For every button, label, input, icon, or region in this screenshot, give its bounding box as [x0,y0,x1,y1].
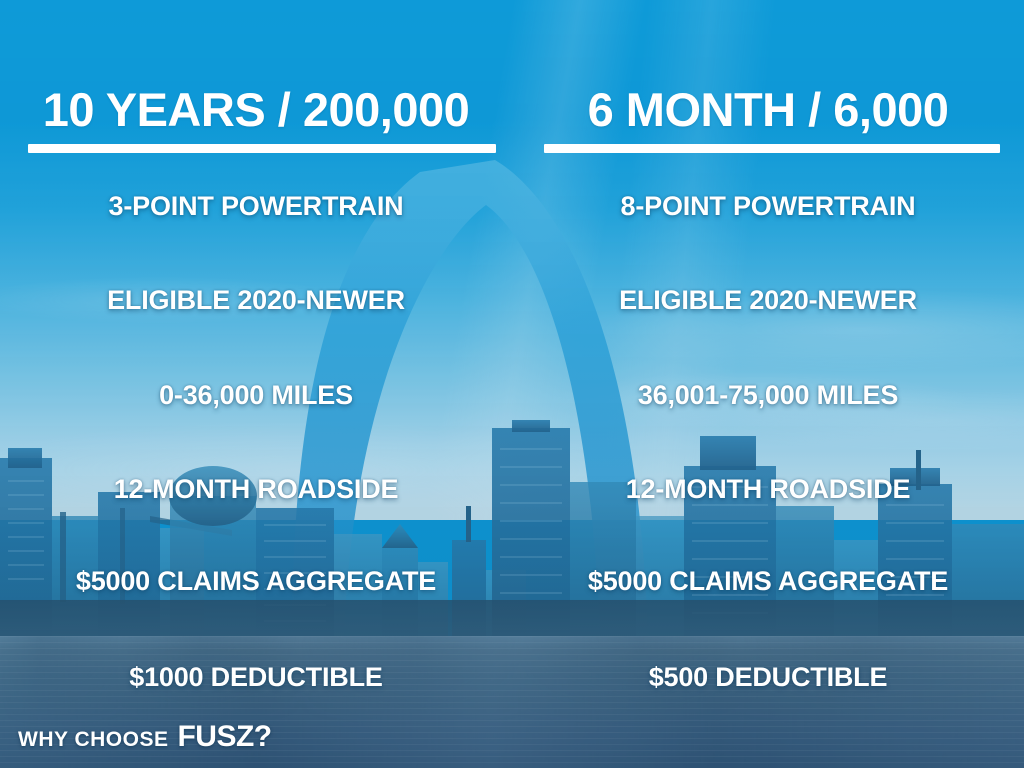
column-heading-right: 6 MONTH / 6,000 [512,86,1024,133]
feature-item: ELIGIBLE 2020-NEWER [0,287,512,314]
feature-item: 3-POINT POWERTRAIN [0,193,512,220]
feature-item: ELIGIBLE 2020-NEWER [512,287,1024,314]
feature-item: $500 DEDUCTIBLE [512,664,1024,691]
feature-item: 36,001-75,000 MILES [512,382,1024,409]
feature-item: 8-POINT POWERTRAIN [512,193,1024,220]
promo-graphic: 10 YEARS / 200,000 3-POINT POWERTRAIN EL… [0,0,1024,768]
heading-underline-right [544,144,1000,153]
feature-item: $5000 CLAIMS AGGREGATE [0,568,512,595]
logo-brand-text: FUSZ? [177,720,271,754]
column-tier-10-year: 10 YEARS / 200,000 3-POINT POWERTRAIN EL… [0,0,512,768]
column-tier-6-month: 6 MONTH / 6,000 8-POINT POWERTRAIN ELIGI… [512,0,1024,768]
column-heading-left: 10 YEARS / 200,000 [0,86,512,133]
feature-item: 12-MONTH ROADSIDE [512,476,1024,503]
brand-logo: WHY CHOOSE FUSZ? [18,720,272,754]
feature-item: 0-36,000 MILES [0,382,512,409]
feature-item: $5000 CLAIMS AGGREGATE [512,568,1024,595]
feature-item: 12-MONTH ROADSIDE [0,476,512,503]
logo-prefix-text: WHY CHOOSE [18,728,168,752]
heading-underline-left [28,144,496,153]
feature-item: $1000 DEDUCTIBLE [0,664,512,691]
comparison-content: 10 YEARS / 200,000 3-POINT POWERTRAIN EL… [0,0,1024,768]
